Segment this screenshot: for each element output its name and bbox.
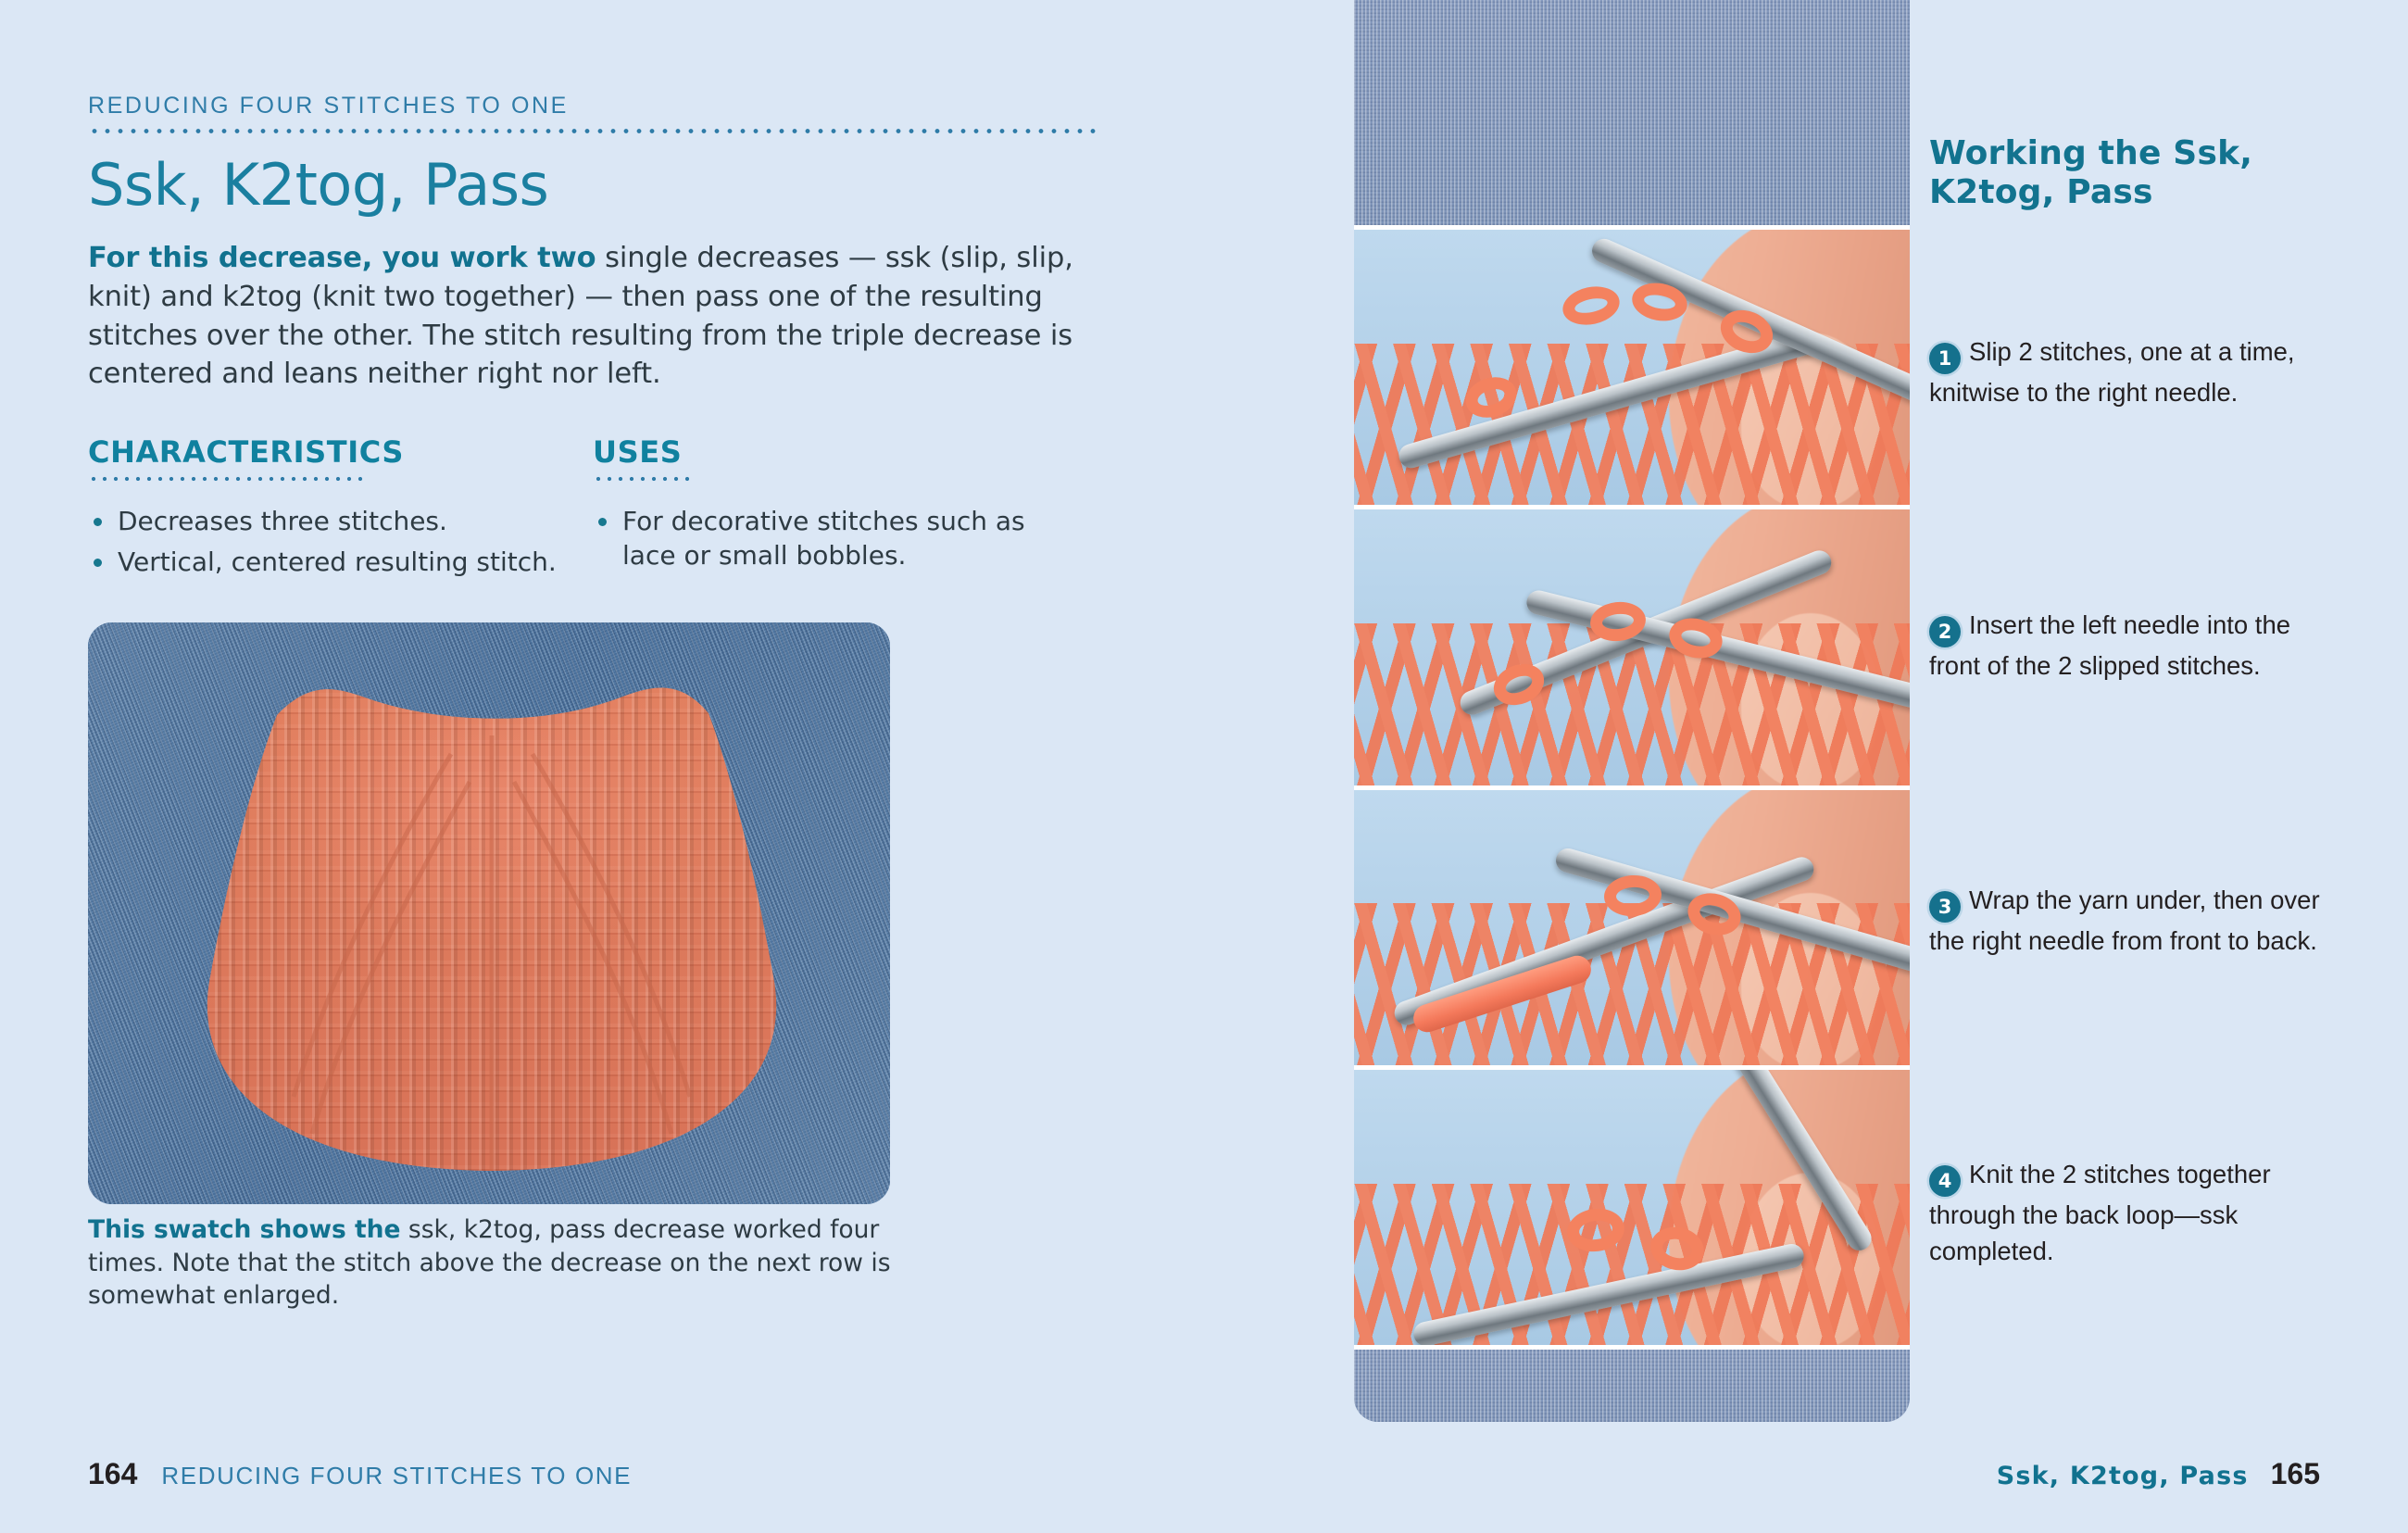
step-text: Insert the left needle into the front of… <box>1929 610 2290 681</box>
photo-denim-bottom <box>1354 1350 1910 1422</box>
uses-column: USES For decorative stitches such as lac… <box>593 434 1074 585</box>
left-page-content: REDUCING FOUR STITCHES TO ONE Ssk, K2tog… <box>88 93 1097 586</box>
characteristics-list: Decreases three stitches. Vertical, cent… <box>88 504 593 579</box>
step-photo-2 <box>1354 509 1910 785</box>
swatch-caption: This swatch shows the ssk, k2tog, pass d… <box>88 1213 922 1313</box>
footer-technique-label: Ssk, K2tog, Pass <box>1997 1462 2249 1490</box>
step-item-1: 1Slip 2 stitches, one at a time, knitwis… <box>1929 333 2327 411</box>
yarn-loop <box>1560 282 1624 330</box>
section-eyebrow: REDUCING FOUR STITCHES TO ONE <box>88 93 1097 119</box>
uses-list: For decorative stitches such as lace or … <box>593 504 1074 572</box>
step-photo-1 <box>1354 230 1910 505</box>
spread-page: REDUCING FOUR STITCHES TO ONE Ssk, K2tog… <box>0 0 2408 1533</box>
left-footer: 164 REDUCING FOUR STITCHES TO ONE <box>88 1457 632 1491</box>
step-photo-strip <box>1354 0 1910 1422</box>
step-photo-3 <box>1354 790 1910 1065</box>
characteristics-heading: CHARACTERISTICS <box>88 434 593 470</box>
step-item-3: 3Wrap the yarn under, then over the righ… <box>1929 882 2327 960</box>
swatch-photo <box>88 622 890 1204</box>
right-footer: Ssk, K2tog, Pass 165 <box>1997 1457 2320 1491</box>
step-number-badge: 3 <box>1929 891 1961 923</box>
caption-lead-in: This swatch shows the <box>88 1215 400 1244</box>
page-number-left: 164 <box>88 1457 137 1491</box>
step-item-2: 2Insert the left needle into the front o… <box>1929 607 2327 685</box>
photo-denim-top <box>1354 0 1910 225</box>
feature-columns: CHARACTERISTICS Decreases three stitches… <box>88 434 1097 585</box>
step-item-4: 4Knit the 2 stitches together through th… <box>1929 1156 2327 1270</box>
knitted-swatch <box>173 671 809 1171</box>
list-item: Vertical, centered resulting stitch. <box>88 545 593 579</box>
instructions-heading: Working the Ssk, K2tog, Pass <box>1929 134 2327 213</box>
step-text: Knit the 2 stitches together through the… <box>1929 1160 2271 1266</box>
list-item: For decorative stitches such as lace or … <box>593 504 1074 572</box>
uses-heading: USES <box>593 434 1074 470</box>
characteristics-column: CHARACTERISTICS Decreases three stitches… <box>88 434 593 585</box>
intro-paragraph: For this decrease, you work two single d… <box>88 239 1084 394</box>
knit-mesh <box>1354 344 1910 505</box>
dotted-rule-characteristics <box>88 476 366 482</box>
step-number-badge: 2 <box>1929 616 1961 647</box>
list-item: Decreases three stitches. <box>88 504 593 538</box>
step-text: Wrap the yarn under, then over the right… <box>1929 886 2320 956</box>
step-number-badge: 4 <box>1929 1165 1961 1197</box>
instructions-column: Working the Ssk, K2tog, Pass 1Slip 2 sti… <box>1929 134 2327 213</box>
swatch-decrease-lines <box>173 671 809 1171</box>
page-title: Ssk, K2tog, Pass <box>88 155 1097 215</box>
step-photo-4 <box>1354 1070 1910 1345</box>
step-text: Slip 2 stitches, one at a time, knitwise… <box>1929 337 2295 408</box>
dotted-rule-uses <box>593 476 690 482</box>
footer-section-label: REDUCING FOUR STITCHES TO ONE <box>161 1462 632 1490</box>
step-number-badge: 1 <box>1929 343 1961 374</box>
dotted-rule <box>88 128 1097 134</box>
intro-lead-in: For this decrease, you work two <box>88 242 596 274</box>
page-number-right: 165 <box>2271 1457 2320 1491</box>
